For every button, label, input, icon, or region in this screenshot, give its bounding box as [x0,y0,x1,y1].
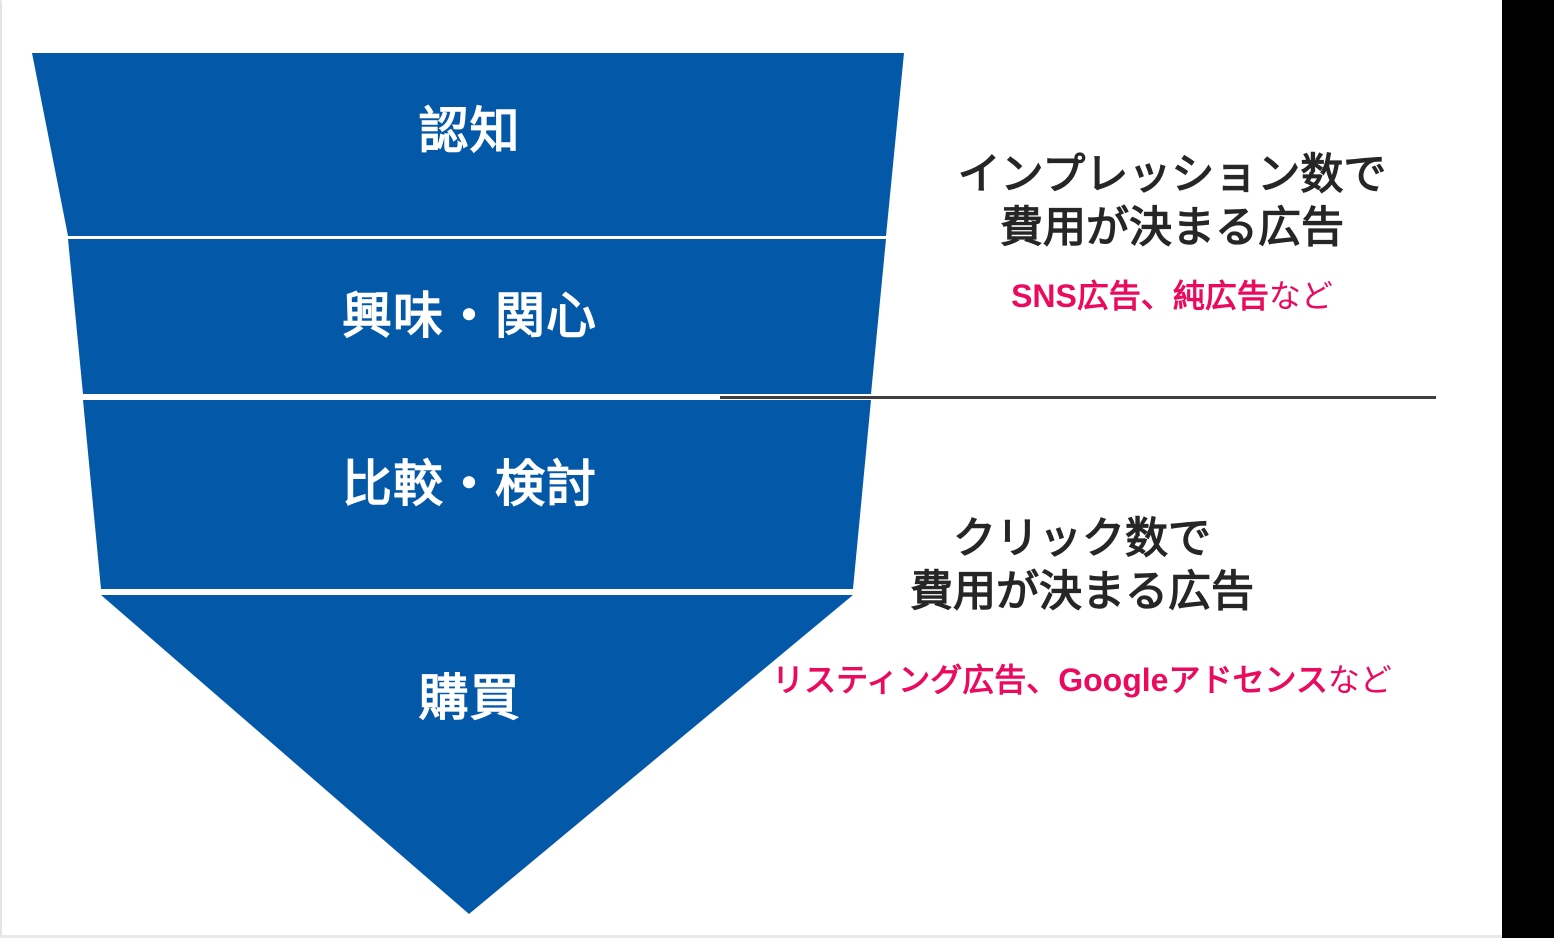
annotation-top-heading: インプレッション数で 費用が決まる広告 [882,149,1462,255]
annotation-bottom-examples: リスティング広告、Googleアドセンスなど [702,661,1462,699]
annotation-bottom-heading: クリック数で 費用が決まる広告 [702,513,1462,619]
section-divider-rule [720,396,1436,399]
funnel-stage-label-consideration: 比較・検討 [2,459,937,509]
annotation-top-examples-strong: SNS広告、純広告 [1011,278,1269,314]
annotation-top-examples: SNS広告、純広告など [882,277,1462,315]
funnel-stage-label-awareness: 認知 [2,106,937,156]
annotation-bottom-examples-soft: など [1328,662,1392,698]
annotation-top-examples-soft: など [1269,278,1333,314]
slide-canvas: 認知 興味・関心 比較・検討 購買 インプレッション数で 費用が決まる広告 SN… [0,0,1554,938]
annotation-bottom-examples-strong: リスティング広告、Googleアドセンス [772,662,1328,698]
annotation-impression-based: インプレッション数で 費用が決まる広告 SNS広告、純広告など [882,149,1462,315]
right-black-band [1502,0,1554,938]
funnel-stage-label-interest: 興味・関心 [2,291,937,341]
slide-content-area: 認知 興味・関心 比較・検討 購買 インプレッション数で 費用が決まる広告 SN… [0,0,1502,938]
annotation-click-based: クリック数で 費用が決まる広告 リスティング広告、Googleアドセンスなど [702,513,1462,699]
